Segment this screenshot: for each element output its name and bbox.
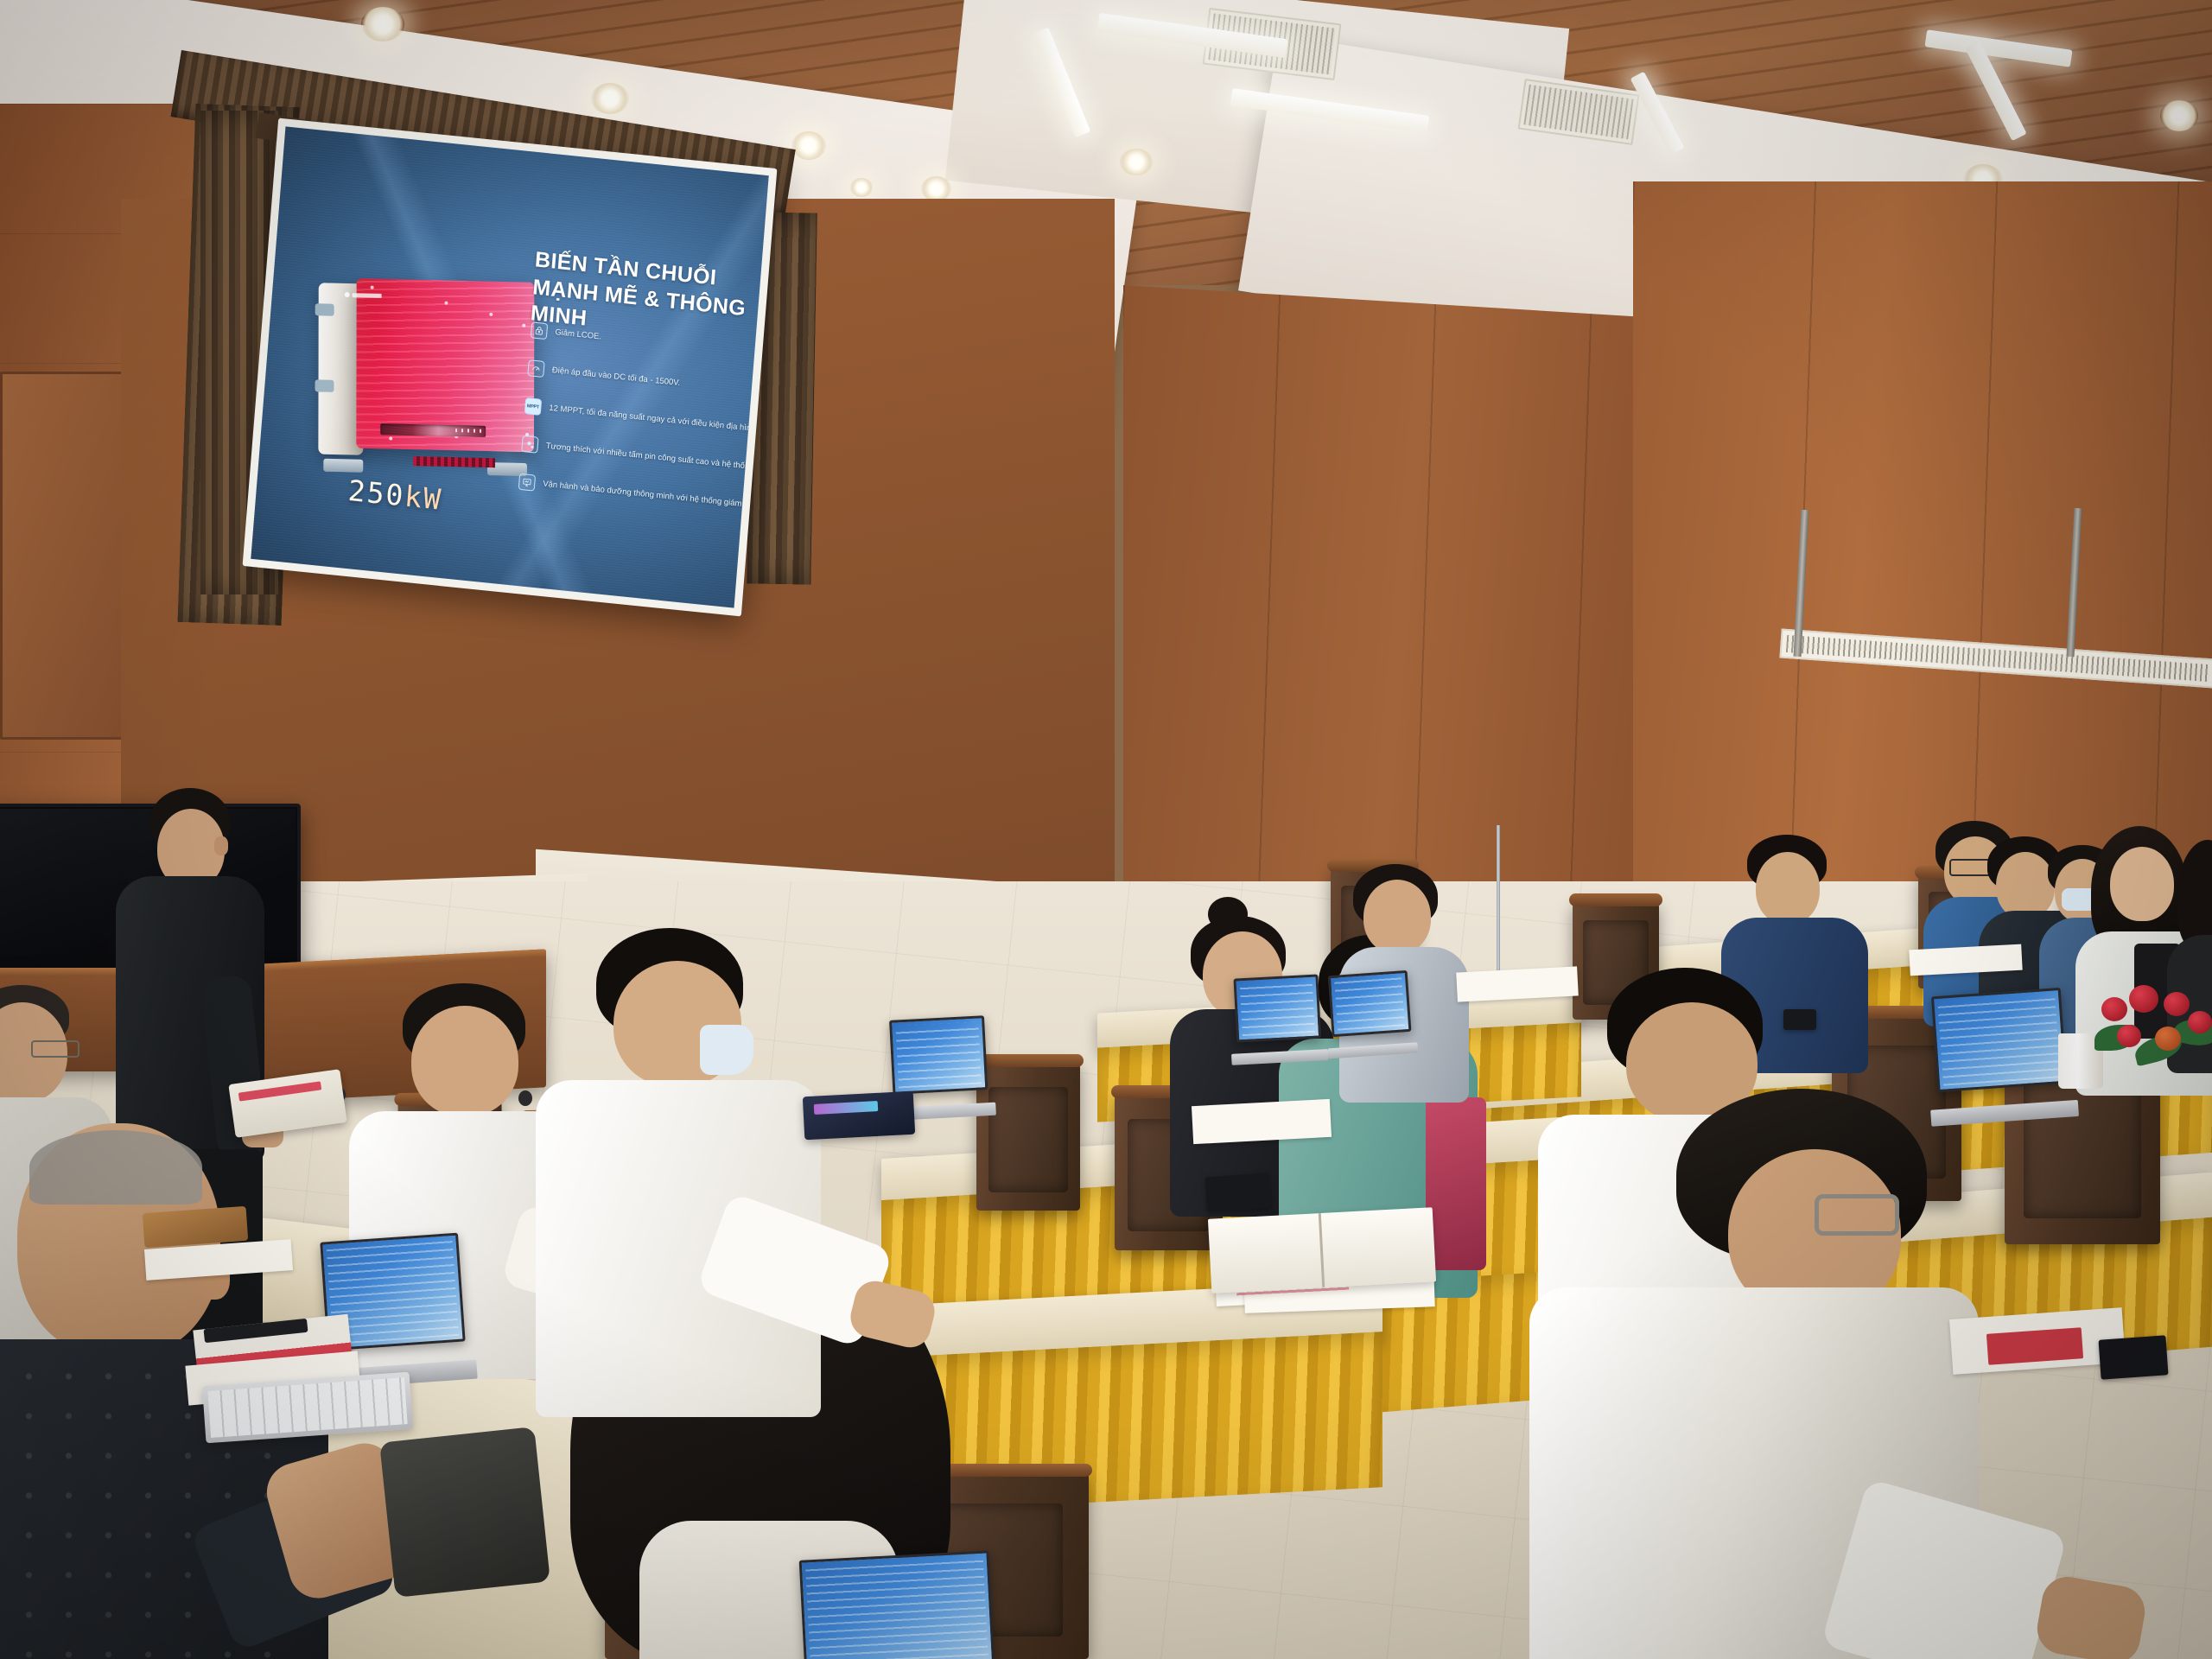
slide-bullet: Vận hành và bảo dưỡng thông minh với hệ …: [518, 474, 769, 522]
short-gray-hair: [29, 1130, 202, 1205]
chair: [976, 1059, 1080, 1211]
inverter-side-panel: [318, 283, 363, 454]
inverter-front-face: [356, 278, 534, 452]
slide-bullet: MPPT 12 MPPT, tối đa năng suất ngay cả v…: [524, 397, 769, 441]
lock-savings-icon: [531, 321, 548, 340]
gauge-icon: [527, 359, 544, 378]
laptop[interactable]: [1233, 975, 1322, 1065]
smartphone[interactable]: [1783, 1009, 1816, 1030]
backpack: [379, 1427, 550, 1598]
laptop[interactable]: [1328, 970, 1413, 1058]
conference-room-photo: 250kW BIẾN TẦN CHUỖI MẠNH MẼ & THÔNG MIN…: [0, 0, 2212, 1659]
slide-bullet-text: 12 MPPT, tối đa năng suất ngay cả với đi…: [549, 404, 769, 438]
scarf: [1426, 1097, 1486, 1270]
notebook: [143, 1206, 248, 1248]
slide-bullet: Điện áp đầu vào DC tối đa - 1500V.: [527, 359, 681, 391]
inverter-heat-fins: [413, 456, 495, 467]
slide-bullet-text: Điện áp đầu vào DC tối đa - 1500V.: [551, 365, 680, 388]
slide-bullet-text: Vận hành và bảo dưỡng thông minh với hệ …: [543, 480, 769, 518]
eyeglasses-icon: [1815, 1194, 1899, 1236]
slide-bullet: Tương thích với nhiều tấm pin công suất …: [521, 435, 769, 483]
slide-title-line1: BIẾN TẦN CHUỖI: [534, 247, 717, 291]
slide-bullet: Giảm LCOE.: [531, 321, 602, 345]
presenter-nose: [214, 836, 228, 855]
slide-bullet-text: Tương thích với nhiều tấm pin công suất …: [545, 442, 768, 480]
laptop[interactable]: [1931, 988, 2069, 1126]
ceiling-downlight-icon: [791, 131, 826, 160]
product-box: [803, 1091, 915, 1141]
document: [1192, 1099, 1332, 1144]
inverter-brand-logo-icon: [345, 292, 382, 298]
slide-surface: 250kW BIẾN TẦN CHUỖI MẠNH MẼ & THÔNG MIN…: [251, 126, 769, 607]
mppt-badge-icon: MPPT: [524, 397, 542, 416]
ceiling-downlight-icon: [591, 83, 629, 114]
ceiling-downlight-icon: [2160, 100, 2198, 131]
gears-icon: [521, 435, 538, 454]
eyeglasses-icon: [31, 1040, 79, 1058]
inverter-mount-bracket: [315, 379, 334, 392]
inverter-mount-bracket: [315, 303, 334, 316]
ceiling-downlight-icon: [1120, 149, 1153, 175]
ceiling-downlight-icon: [921, 176, 951, 201]
red-brochure: [1986, 1327, 2083, 1365]
ceiling-downlight-icon: [361, 7, 404, 41]
smartphone[interactable]: [2098, 1335, 2168, 1379]
desk-caster: [518, 1090, 532, 1106]
laptop[interactable]: [799, 1550, 999, 1659]
face-mask: [700, 1025, 753, 1075]
projection-screen: 250kW BIẾN TẦN CHUỖI MẠNH MẼ & THÔNG MIN…: [243, 118, 778, 617]
solar-inverter-product-image: [318, 277, 534, 464]
smartphone[interactable]: [1205, 1173, 1272, 1211]
inverter-foot: [487, 462, 527, 476]
monitor-alert-icon: [518, 474, 536, 492]
slide-bullet-text: Giảm LCOE.: [555, 327, 601, 341]
inverter-foot: [323, 459, 363, 473]
product-power-label: 250kW: [346, 474, 443, 517]
inverter-led-strip: [380, 423, 486, 437]
slide-title-line2: MẠNH MẼ & THÔNG MINH: [530, 275, 759, 348]
ceiling-downlight-icon: [850, 178, 873, 197]
rose-bouquet: [2091, 976, 2212, 1071]
